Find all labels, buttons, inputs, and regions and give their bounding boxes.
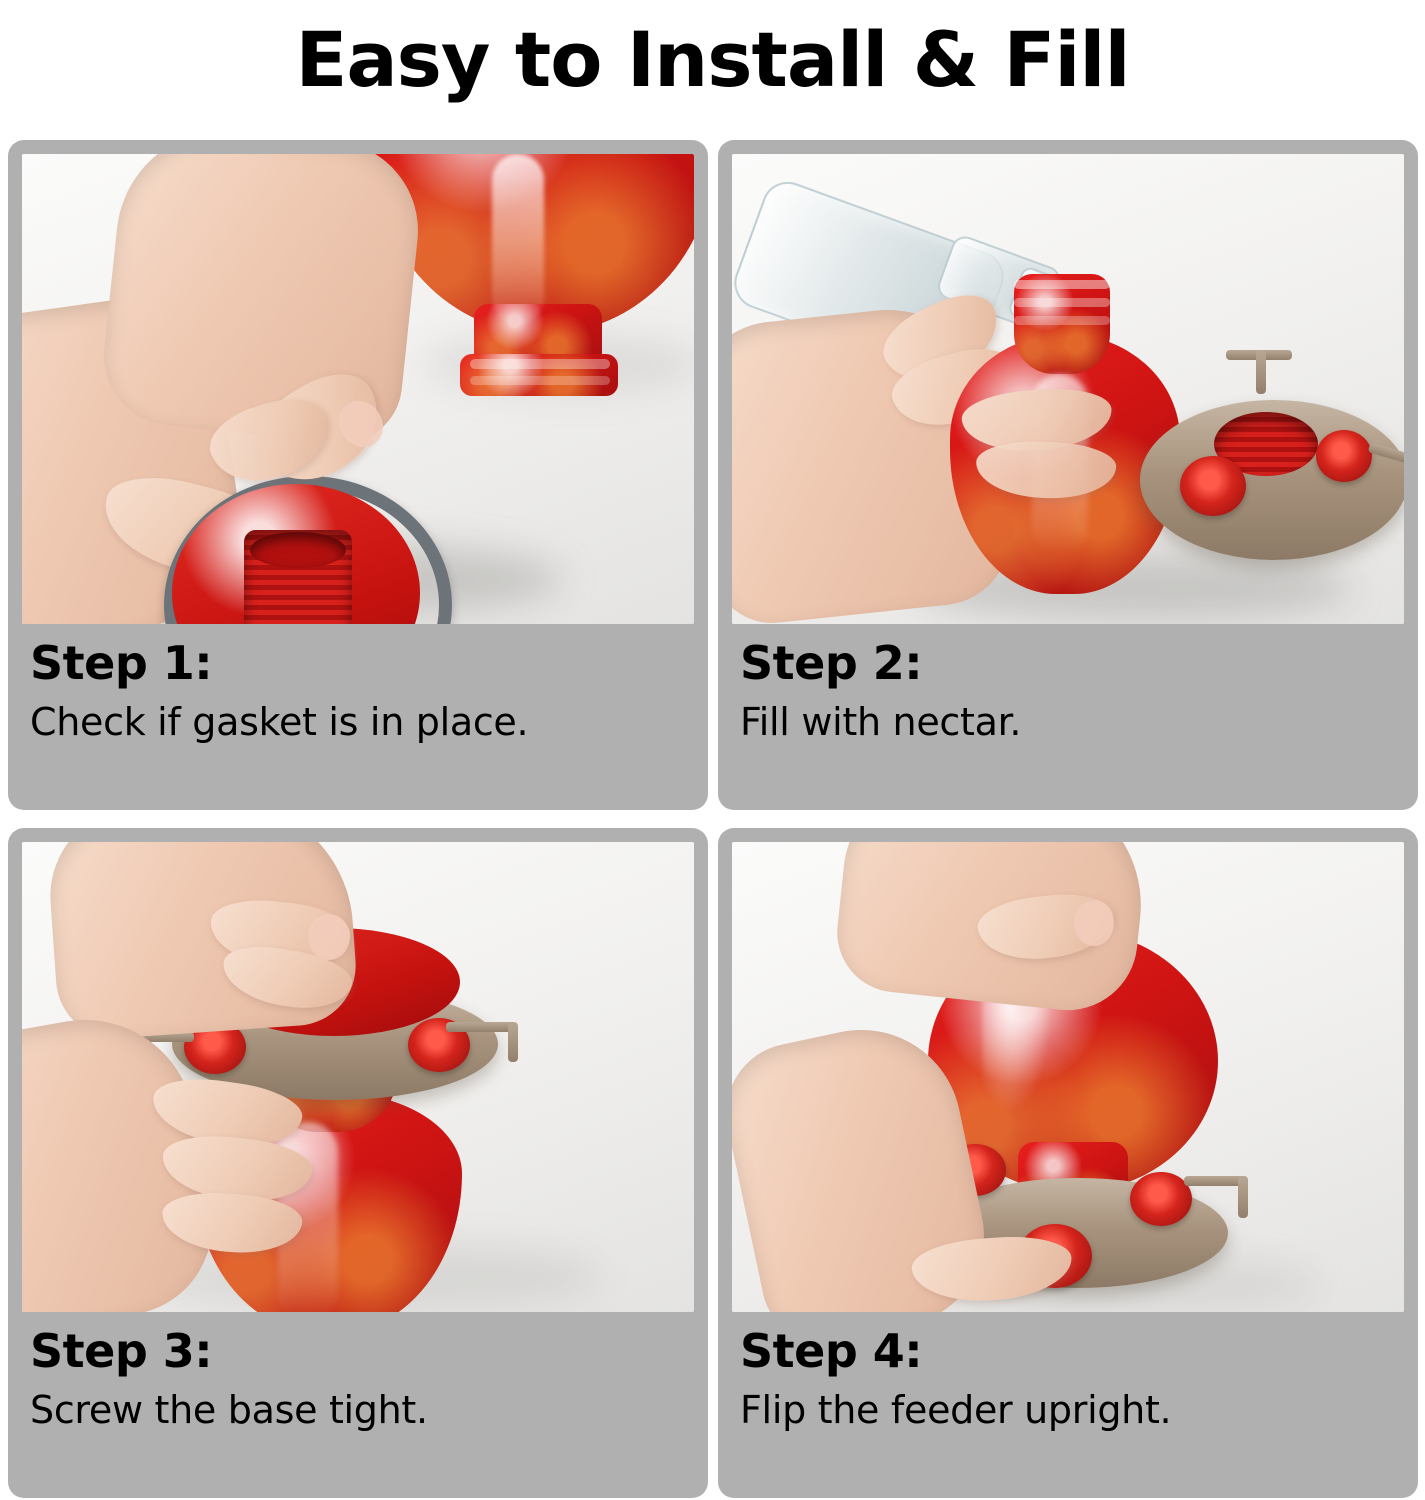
feeder-perch (1256, 350, 1266, 394)
step-4-caption: Step 4: Flip the feeder upright. (732, 1312, 1404, 1436)
feeder-perch (446, 1022, 516, 1032)
step-card-1: Step 1: Check if gasket is in place. (8, 140, 708, 810)
feeder-flower-port (1180, 456, 1246, 516)
instruction-page: Easy to Install & Fill (0, 0, 1425, 1500)
step-1-description: Check if gasket is in place. (30, 690, 694, 748)
neck-threads (1014, 280, 1110, 289)
step-card-3: Step 3: Screw the base tight. (8, 828, 708, 1498)
step-1-caption: Step 1: Check if gasket is in place. (22, 624, 694, 748)
feeder-flower-port (1130, 1172, 1192, 1226)
step-2-title: Step 2: (740, 636, 1404, 690)
step-2-caption: Step 2: Fill with nectar. (732, 624, 1404, 748)
step-card-4: Step 4: Flip the feeder upright. (718, 828, 1418, 1498)
step-4-description: Flip the feeder upright. (740, 1378, 1404, 1436)
step-3-photo (22, 842, 694, 1312)
step-3-title: Step 3: (30, 1324, 694, 1378)
step-2-photo (732, 154, 1404, 624)
glass-thread-ring (470, 376, 610, 385)
neck-threads (1014, 298, 1110, 307)
glass-thread-ring (470, 359, 610, 369)
step-4-title: Step 4: (740, 1324, 1404, 1378)
fingernail (308, 914, 350, 960)
step-2-description: Fill with nectar. (740, 690, 1404, 748)
steps-grid: Step 1: Check if gasket is in place. (8, 140, 1418, 1498)
page-title: Easy to Install & Fill (0, 0, 1425, 118)
feeder-perch (508, 1022, 518, 1062)
step-1-title: Step 1: (30, 636, 694, 690)
glass-highlight (492, 154, 544, 324)
fingernail (1074, 900, 1114, 946)
feeder-perch (1238, 1176, 1248, 1218)
step-3-description: Screw the base tight. (30, 1378, 694, 1436)
neck-threads (1014, 316, 1110, 325)
feeder-flower-port (1316, 430, 1372, 482)
step-1-photo (22, 154, 694, 624)
step-card-2: Step 2: Fill with nectar. (718, 140, 1418, 810)
step-4-photo (732, 842, 1404, 1312)
collar-opening (250, 532, 346, 568)
step-3-caption: Step 3: Screw the base tight. (22, 1312, 694, 1436)
